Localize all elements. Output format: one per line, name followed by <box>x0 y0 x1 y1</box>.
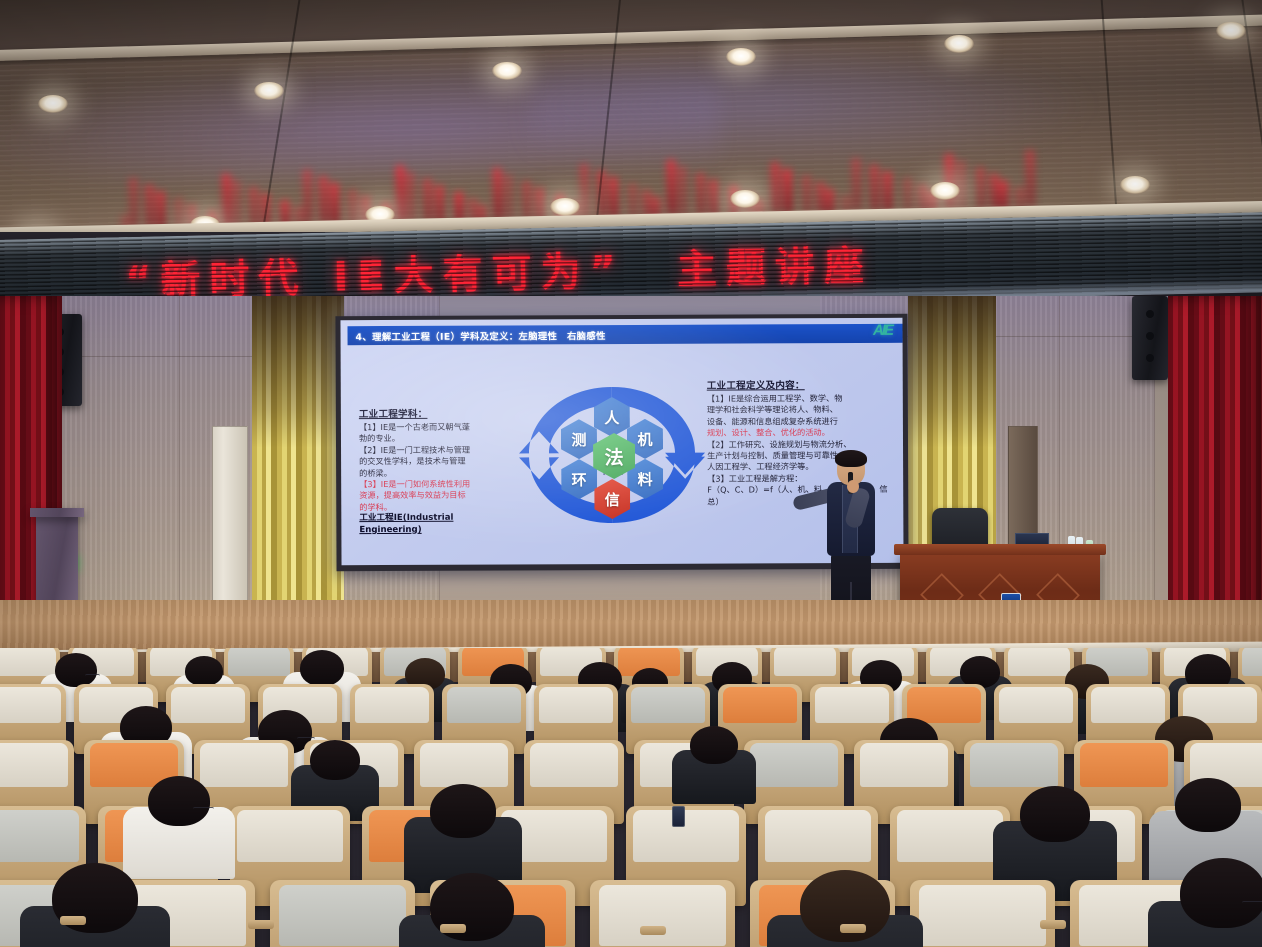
right-speaker-stack <box>1132 296 1168 380</box>
left-red-line-2: 的学科。 <box>359 501 514 513</box>
seat-cushion <box>774 648 836 676</box>
left-red-line-0: 【3】IE是一门如何系统性利用 <box>359 479 514 491</box>
seat-cushion <box>1008 648 1070 676</box>
left-column-heading: 工业工程学科： <box>359 405 514 420</box>
seat-cushion <box>765 810 871 862</box>
downlight-10 <box>730 190 760 208</box>
seat-cushion <box>0 687 61 723</box>
slide-title-sub: 左脑理性 右脑感性 <box>518 331 605 342</box>
right-line-4: 【2】工作研究、设施规划与物流分析、 <box>707 438 904 450</box>
audience-head <box>1020 786 1090 842</box>
auditorium-photo: “新时代 IE大有可为” 主题讲座 <box>0 0 1262 947</box>
right-line-0: 【1】IE是综合运用工程学、数学、物 <box>707 393 904 405</box>
audience-head <box>185 656 223 686</box>
seat-cushion <box>447 687 521 723</box>
downlight-12 <box>1120 176 1150 194</box>
seat-armrest <box>60 916 86 925</box>
seat-cushion <box>237 810 343 862</box>
seat-cushion <box>228 648 290 676</box>
audience-head <box>148 776 210 826</box>
audience-seating <box>0 648 1262 947</box>
right-line-2: 设备、能源和信息组成复杂系统进行 <box>707 416 904 428</box>
seat-cushion <box>919 885 1047 946</box>
led-segment-2: IE大有可为” <box>333 238 626 302</box>
downlight-9 <box>550 198 580 216</box>
audience-head <box>690 726 738 764</box>
seat-armrest <box>840 924 866 933</box>
seat-cushion <box>0 743 68 787</box>
seat-cushion <box>0 648 56 676</box>
downlight-3 <box>726 48 756 66</box>
seat-cushion <box>860 743 948 787</box>
left-column-footer: 工业工程IE(Industrial Engineering) <box>359 513 514 536</box>
presenter-hand <box>847 480 859 493</box>
seat-cushion <box>907 687 981 723</box>
left-line-2: 【2】IE是一门工程技术与管理 <box>359 444 514 456</box>
slide-title-main: 理解工业工程（IE）学科及定义： <box>372 331 518 343</box>
seat-armrest <box>440 924 466 933</box>
audience-head <box>55 653 97 687</box>
auditorium-seat[interactable] <box>270 880 415 947</box>
downlight-5 <box>1216 22 1246 40</box>
podium <box>36 514 78 614</box>
seat-cushion <box>599 885 727 946</box>
audience-head <box>430 784 496 838</box>
seat-cushion <box>279 885 407 946</box>
audience-head <box>310 740 360 780</box>
right-line-1: 理学和社会科学等理论将人、物料、 <box>707 404 904 416</box>
seat-cushion <box>171 687 245 723</box>
left-line-0: 【1】IE是一个古老而又朝气蓬 <box>359 421 514 433</box>
seat-armrest <box>640 926 666 935</box>
seat-armrest <box>1040 920 1066 929</box>
seat-cushion <box>723 687 797 723</box>
seat-cushion <box>539 687 613 723</box>
seat-cushion <box>1080 743 1168 787</box>
glasses-icon <box>1242 901 1262 905</box>
stage-door-left[interactable] <box>212 426 248 616</box>
slide-left-column: 工业工程学科： 【1】IE是一个古老而又朝气蓬 勃的专业。 【2】IE是一门工程… <box>359 405 515 536</box>
seat-cushion <box>750 743 838 787</box>
audience-head <box>1175 778 1241 832</box>
seat-cushion <box>200 743 288 787</box>
seat-cushion <box>631 687 705 723</box>
left-gold-curtain <box>252 296 344 626</box>
seat-cushion <box>999 687 1073 723</box>
stage-door-right[interactable] <box>1008 426 1038 546</box>
downlight-0 <box>38 95 68 113</box>
desk-top-edge <box>894 544 1106 555</box>
slide-title: 4、理解工业工程（IE）学科及定义：左脑理性 右脑感性 <box>348 328 606 343</box>
seat-cushion <box>420 743 508 787</box>
right-line-3: 规划、设计、整合、优化的活动。 <box>707 427 904 439</box>
audience-head <box>1180 858 1262 928</box>
left-line-1: 勃的专业。 <box>359 433 514 445</box>
led-segment-3: 主题讲座 <box>676 233 873 295</box>
seat-cushion <box>633 810 739 862</box>
slide-title-bar: 4、理解工业工程（IE）学科及定义：左脑理性 右脑感性 <box>347 324 903 345</box>
seat-cushion <box>1242 648 1262 676</box>
presenter-hair <box>835 450 867 467</box>
aie-logo-icon: AIE <box>867 321 897 339</box>
right-column-heading: 工业工程定义及内容： <box>707 377 904 392</box>
left-line-3: 的交叉性学科，是技术与管理 <box>359 456 514 468</box>
seat-cushion <box>897 810 1003 862</box>
ie-hexagon-diagram: 人 机 料 测 环 法 信 <box>517 369 708 545</box>
seat-armrest <box>248 920 274 929</box>
left-line-4: 的桥梁。 <box>359 467 514 479</box>
seat-cushion <box>815 687 889 723</box>
podium-top <box>30 508 84 517</box>
right-red-curtain <box>1168 296 1262 628</box>
audience-head <box>300 650 344 686</box>
downlight-4 <box>944 35 974 53</box>
ceiling <box>0 0 1262 232</box>
downlight-11 <box>930 182 960 200</box>
glasses-icon <box>193 807 214 811</box>
audience-phone[interactable] <box>672 806 685 827</box>
seat-cushion <box>0 810 79 862</box>
seat-cushion <box>970 743 1058 787</box>
glasses-icon <box>85 674 99 678</box>
left-red-line-1: 资源，提高效率与效益为目标 <box>359 490 514 502</box>
auditorium-seat[interactable] <box>910 880 1055 947</box>
auditorium-seat[interactable] <box>590 880 735 947</box>
slide-title-number: 4、 <box>356 332 373 343</box>
seat-cushion <box>355 687 429 723</box>
downlight-2 <box>492 62 522 80</box>
downlight-1 <box>254 82 284 100</box>
seat-cushion <box>1091 687 1165 723</box>
seat-cushion <box>530 743 618 787</box>
